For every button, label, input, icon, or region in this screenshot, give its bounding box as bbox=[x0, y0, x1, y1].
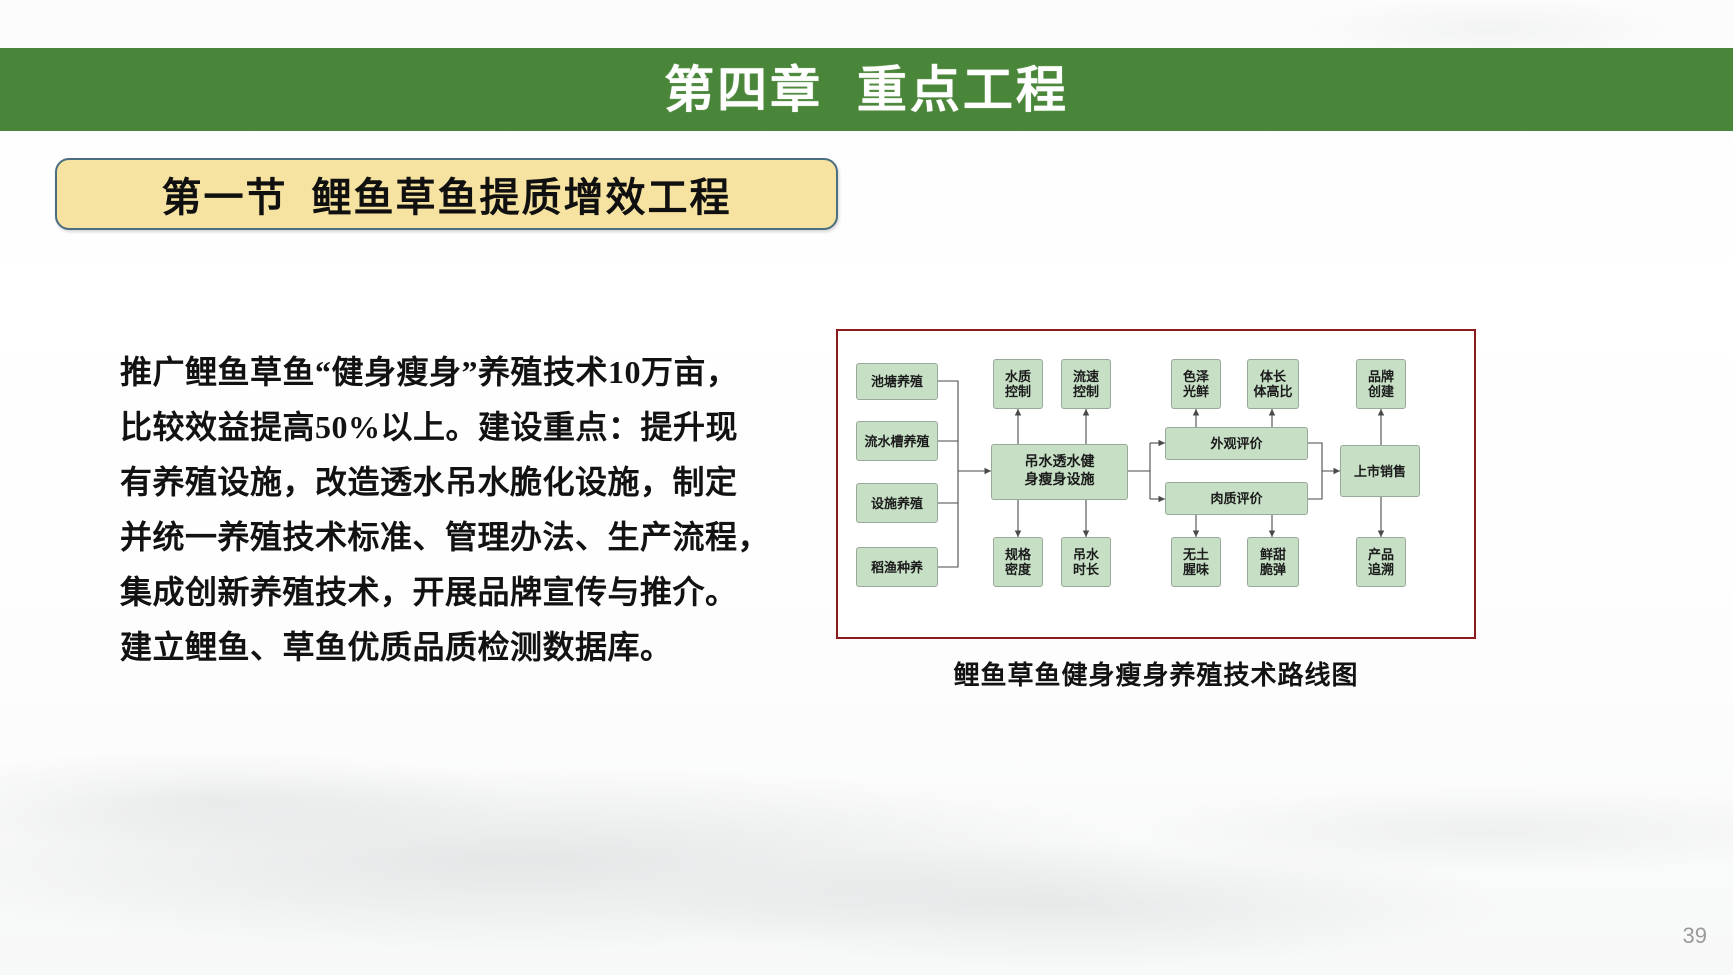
chapter-title: 第四章 重点工程 bbox=[664, 65, 1069, 115]
node-pond-farming[interactable]: 池塘养殖 bbox=[856, 363, 938, 400]
chapter-banner: 第四章 重点工程 bbox=[0, 48, 1733, 131]
node-flow-rate-control[interactable]: 流速 控制 bbox=[1061, 359, 1111, 409]
body-line: 集成创新养殖技术，开展品牌宣传与推介。 bbox=[120, 565, 800, 620]
technology-roadmap-diagram: 池塘养殖 流水槽养殖 设施养殖 稻渔种养 水质 控制 流速 控制 色泽 光鲜 体… bbox=[836, 329, 1476, 639]
node-facility-farming[interactable]: 设施养殖 bbox=[856, 483, 938, 523]
slide-canvas: 第四章 重点工程 第一节 鲤鱼草鱼提质增效工程 推广鲤鱼草鱼“健身瘦身”养殖技术… bbox=[0, 0, 1733, 975]
section-title-box: 第一节 鲤鱼草鱼提质增效工程 bbox=[55, 158, 838, 230]
section-title-text: 第一节 鲤鱼草鱼提质增效工程 bbox=[162, 165, 732, 223]
body-paragraph: 推广鲤鱼草鱼“健身瘦身”养殖技术10万亩， 比较效益提高50%以上。建设重点：提… bbox=[120, 345, 800, 675]
node-meat-quality-evaluation[interactable]: 肉质评价 bbox=[1165, 482, 1308, 515]
node-brand-building[interactable]: 品牌 创建 bbox=[1356, 359, 1406, 409]
node-rice-fish-farming[interactable]: 稻渔种养 bbox=[856, 547, 938, 587]
node-fitness-slimming-facility[interactable]: 吊水透水健 身瘦身设施 bbox=[991, 444, 1128, 500]
diagram-caption: 鲤鱼草鱼健身瘦身养殖技术路线图 bbox=[836, 655, 1476, 692]
body-line: 并统一养殖技术标准、管理办法、生产流程， bbox=[120, 510, 800, 565]
node-no-muddy-odor[interactable]: 无土 腥味 bbox=[1171, 537, 1221, 587]
node-water-quality-control[interactable]: 水质 控制 bbox=[993, 359, 1043, 409]
node-suspension-duration[interactable]: 吊水 时长 bbox=[1061, 537, 1111, 587]
node-raceway-farming[interactable]: 流水槽养殖 bbox=[856, 421, 938, 461]
node-color-brightness[interactable]: 色泽 光鲜 bbox=[1171, 359, 1221, 409]
node-product-traceability[interactable]: 产品 追溯 bbox=[1356, 537, 1406, 587]
node-size-density[interactable]: 规格 密度 bbox=[993, 537, 1043, 587]
body-line: 推广鲤鱼草鱼“健身瘦身”养殖技术10万亩， bbox=[120, 345, 800, 400]
node-market-sales[interactable]: 上市销售 bbox=[1340, 445, 1420, 497]
node-appearance-evaluation[interactable]: 外观评价 bbox=[1165, 427, 1308, 460]
body-line: 建立鲤鱼、草鱼优质品质检测数据库。 bbox=[120, 620, 800, 675]
page-number: 39 bbox=[1683, 923, 1707, 949]
node-length-height-ratio[interactable]: 体长 体高比 bbox=[1247, 359, 1299, 409]
diagram-inner: 池塘养殖 流水槽养殖 设施养殖 稻渔种养 水质 控制 流速 控制 色泽 光鲜 体… bbox=[838, 331, 1474, 637]
body-line: 有养殖设施，改造透水吊水脆化设施，制定 bbox=[120, 455, 800, 510]
body-line: 比较效益提高50%以上。建设重点：提升现 bbox=[120, 400, 800, 455]
node-sweet-crisp-texture[interactable]: 鲜甜 脆弹 bbox=[1247, 537, 1299, 587]
